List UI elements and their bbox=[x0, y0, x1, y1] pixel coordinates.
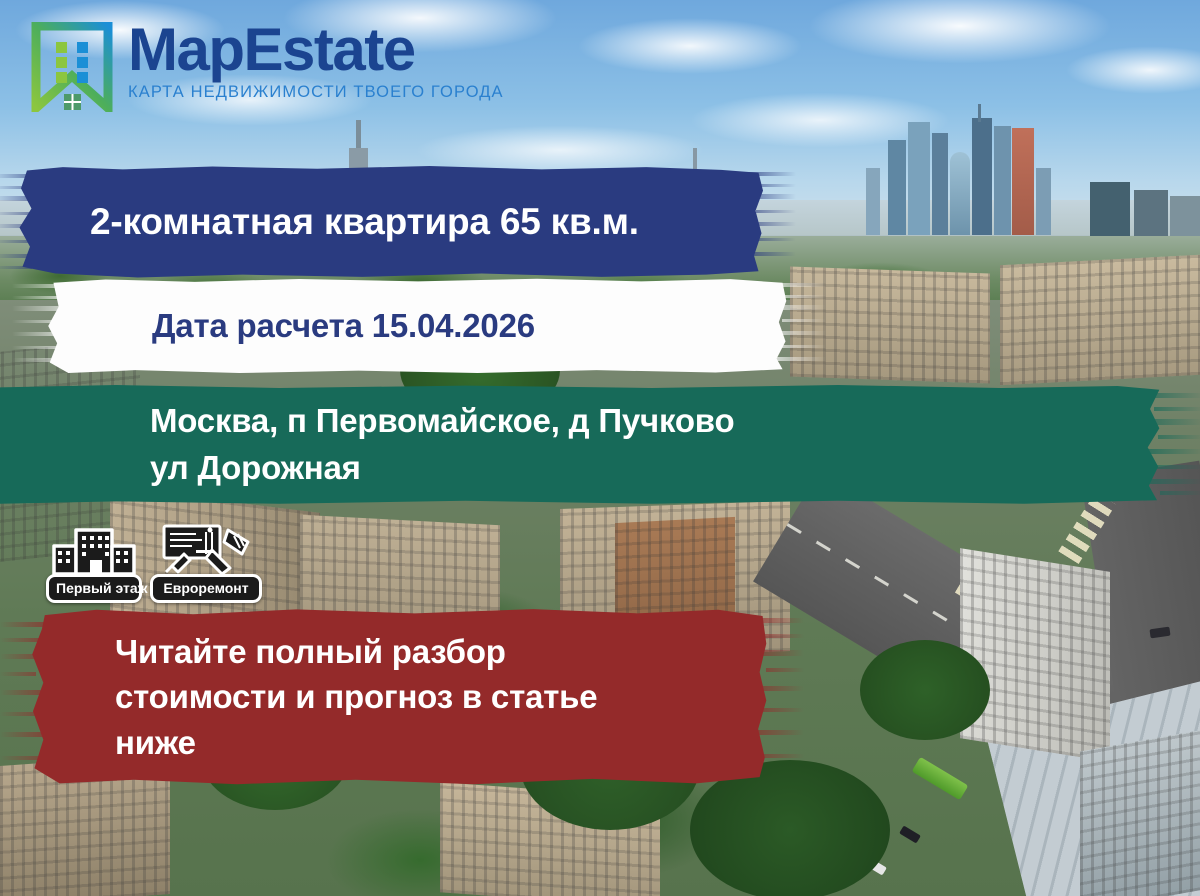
residential-block bbox=[1000, 255, 1200, 385]
office-block bbox=[1134, 190, 1168, 238]
stalin-spire bbox=[356, 120, 361, 162]
address-line-1: Москва, п Первомайское, д Пучково bbox=[150, 398, 1164, 445]
skyscraper bbox=[932, 133, 948, 235]
skyscraper bbox=[888, 140, 906, 235]
skyscraper bbox=[1036, 168, 1051, 235]
brand-name: MapEstate bbox=[128, 20, 504, 80]
cta-banner: Читайте полный разбор стоимости и прогно… bbox=[30, 608, 770, 786]
skyscraper bbox=[950, 152, 970, 235]
badge-first-floor-label: Первый этаж bbox=[46, 574, 142, 603]
cta-line-3: ниже bbox=[115, 720, 770, 766]
tree-mass bbox=[860, 640, 990, 740]
renovation-tools-icon bbox=[150, 520, 262, 578]
skyscraper bbox=[866, 168, 880, 235]
badge-euro-renovation-label: Евроремонт bbox=[150, 574, 262, 603]
skyscraper-red bbox=[1012, 128, 1034, 235]
address-banner: Москва, п Первомайское, д Пучково ул Дор… bbox=[0, 385, 1164, 505]
skyscraper bbox=[908, 122, 930, 235]
window-glyph bbox=[64, 94, 81, 110]
cta-line-2: стоимости и прогноз в статье bbox=[115, 674, 770, 720]
bookmark-building-icon bbox=[30, 22, 114, 112]
badge-first-floor[interactable]: Первый этаж bbox=[46, 520, 142, 603]
cta-text-block: Читайте полный разбор стоимости и прогно… bbox=[30, 629, 770, 766]
office-block bbox=[1090, 182, 1130, 238]
brand-tagline: КАРТА НЕДВИЖИМОСТИ ТВОЕГО ГОРОДА bbox=[128, 83, 504, 102]
badge-euro-renovation[interactable]: Евроремонт bbox=[150, 520, 262, 603]
feature-badges: Первый этаж bbox=[46, 520, 262, 603]
address-text-block: Москва, п Первомайское, д Пучково ул Дор… bbox=[0, 398, 1164, 492]
crane-mast bbox=[978, 104, 981, 122]
calculation-date-text: Дата расчета 15.04.2026 bbox=[46, 308, 790, 344]
address-line-2: ул Дорожная bbox=[150, 445, 1164, 492]
logo-wordmark: MapEstate КАРТА НЕДВИЖИМОСТИ ТВОЕГО ГОРО… bbox=[128, 20, 504, 102]
building-icon bbox=[46, 520, 142, 578]
residential-block bbox=[1080, 729, 1200, 896]
date-banner: Дата расчета 15.04.2026 bbox=[46, 278, 790, 374]
office-block bbox=[1170, 196, 1200, 238]
skyscraper bbox=[972, 118, 992, 235]
cta-line-1: Читайте полный разбор bbox=[115, 629, 770, 675]
skyscraper bbox=[994, 126, 1011, 235]
listing-promo-card: MapEstate КАРТА НЕДВИЖИМОСТИ ТВОЕГО ГОРО… bbox=[0, 0, 1200, 896]
headline-banner: 2-комнатная квартира 65 кв.м. bbox=[18, 166, 766, 278]
headline-text: 2-комнатная квартира 65 кв.м. bbox=[18, 202, 766, 243]
residential-block bbox=[960, 548, 1110, 762]
brand-logo[interactable]: MapEstate КАРТА НЕДВИЖИМОСТИ ТВОЕГО ГОРО… bbox=[30, 22, 504, 112]
